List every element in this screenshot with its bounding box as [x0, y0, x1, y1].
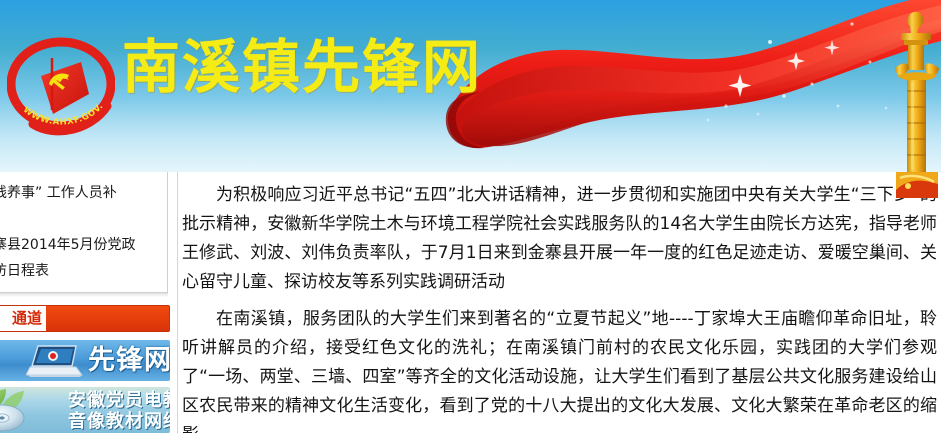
list-item[interactable]: 金寨县2014年5月份党政 [0, 232, 161, 258]
list-item[interactable]: 告 [0, 206, 161, 232]
party-course-banner-line1: 安徽党员电教党课 [68, 390, 170, 411]
huabiao-column-graphic [893, 10, 941, 172]
pioneer-video-banner-title: 先锋网视 [88, 344, 170, 377]
site-title: 南溪镇先锋网 [122, 30, 482, 104]
article-content: 为积极响应习近平总书记“五四”北大讲话精神，进一步贯彻和实施团中央有关大学生“三… [182, 172, 941, 433]
red-silk-ribbon-graphic [440, 0, 941, 172]
party-course-banner-line2: 音像教材网络版 [68, 411, 170, 432]
webpage-root: WWW.AHXF.GOV.CN 南溪镇先锋网 以钱养事” 工作人员补 告 金寨县… [0, 0, 941, 433]
compact-disc-icon [0, 389, 64, 433]
computer-monitor-icon [26, 344, 84, 378]
sidebar-content-divider [177, 172, 178, 433]
article-paragraph: 为积极响应习近平总书记“五四”北大讲话精神，进一步贯彻和实施团中央有关大学生“三… [182, 172, 941, 297]
party-flag-emblem-logo[interactable]: WWW.AHXF.GOV.CN [7, 32, 115, 138]
site-header-banner: WWW.AHXF.GOV.CN 南溪镇先锋网 [0, 0, 941, 172]
list-item[interactable]: 以钱养事” 工作人员补 [0, 180, 161, 206]
left-sidebar: 以钱养事” 工作人员补 告 金寨县2014年5月份党政 接访日程表 通道 [0, 172, 173, 433]
page-body: 以钱养事” 工作人员补 告 金寨县2014年5月份党政 接访日程表 通道 [0, 172, 941, 433]
list-item[interactable]: 接访日程表 [0, 258, 161, 284]
news-box-shadow [0, 293, 168, 297]
news-list: 以钱养事” 工作人员补 告 金寨县2014年5月份党政 接访日程表 [0, 172, 167, 284]
article-corner-thumbnail[interactable] [896, 172, 938, 198]
pioneer-video-banner[interactable]: 先锋网视 [0, 340, 170, 381]
news-list-box: 以钱养事” 工作人员补 告 金寨县2014年5月份党政 接访日程表 [0, 172, 168, 293]
party-course-banner[interactable]: 安徽党员电教党课 音像教材网络版 [0, 387, 170, 433]
channel-tab-label: 通道 [12, 311, 42, 326]
channel-tab[interactable]: 通道 [0, 305, 46, 332]
article-paragraph: 在南溪镇，服务团队的大学生们来到著名的“立夏节起义”地----丁家埠大王庙瞻仰革… [182, 297, 941, 433]
